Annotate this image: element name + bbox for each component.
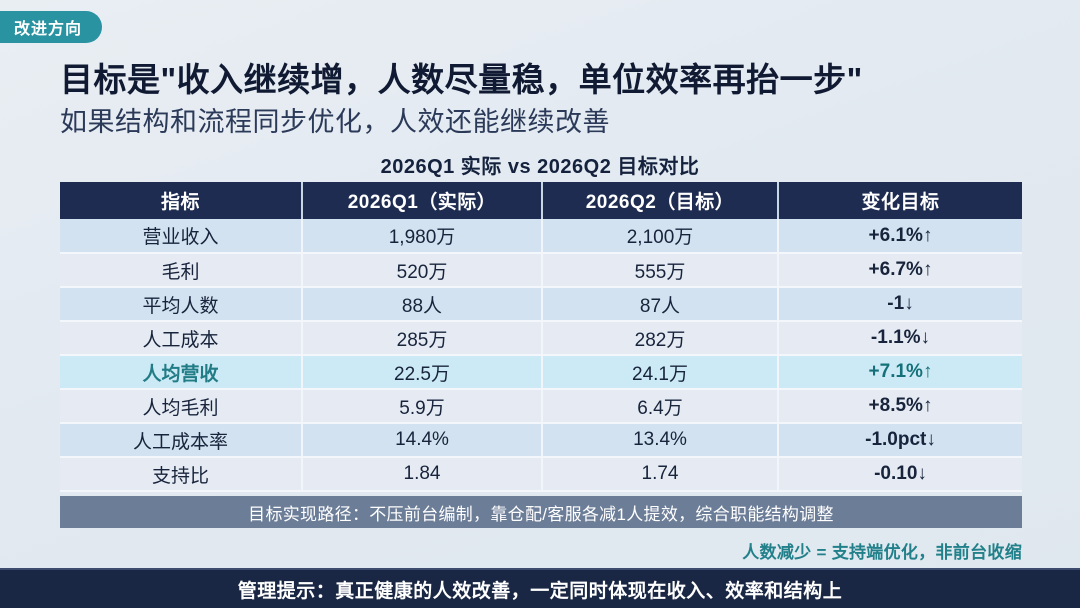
table-row: 毛利520万555万+6.7%↑: [60, 253, 1022, 287]
table-row: 人均营收22.5万24.1万+7.1%↑: [60, 355, 1022, 389]
cell-change-target: +7.1%↑: [778, 355, 1022, 389]
cell-q2-target: 87人: [542, 287, 778, 321]
cell-metric: 人均毛利: [60, 389, 302, 423]
comparison-table: 指标 2026Q1（实际） 2026Q2（目标） 变化目标 营业收入1,980万…: [60, 182, 1022, 492]
cell-change-target: -0.10↓: [778, 457, 1022, 491]
table-header-row: 指标 2026Q1（实际） 2026Q2（目标） 变化目标: [60, 182, 1022, 219]
path-banner-text: 目标实现路径：不压前台编制，靠仓配/客服各减1人提效，综合职能结构调整: [248, 500, 834, 525]
section-badge-label: 改进方向: [14, 15, 82, 39]
table-title: 2026Q1 实际 vs 2026Q2 目标对比: [0, 150, 1080, 179]
table-row: 营业收入1,980万2,100万+6.1%↑: [60, 219, 1022, 253]
cell-change-target: -1.1%↓: [778, 321, 1022, 355]
section-badge: 改进方向: [0, 11, 102, 43]
cell-metric: 平均人数: [60, 287, 302, 321]
table-header: 指标 2026Q1（实际） 2026Q2（目标） 变化目标: [60, 182, 1022, 219]
cell-q1-actual: 1,980万: [302, 219, 542, 253]
table-row: 人均毛利5.9万6.4万+8.5%↑: [60, 389, 1022, 423]
table-row: 人工成本率14.4%13.4%-1.0pct↓: [60, 423, 1022, 457]
cell-q1-actual: 5.9万: [302, 389, 542, 423]
table-row: 人工成本285万282万-1.1%↓: [60, 321, 1022, 355]
page-subtitle: 如果结构和流程同步优化，人效还能继续改善: [60, 100, 610, 139]
column-header-change-target: 变化目标: [778, 182, 1022, 219]
table-row: 平均人数88人87人-1↓: [60, 287, 1022, 321]
table-body: 营业收入1,980万2,100万+6.1%↑毛利520万555万+6.7%↑平均…: [60, 219, 1022, 491]
cell-q2-target: 13.4%: [542, 423, 778, 457]
cell-change-target: +8.5%↑: [778, 389, 1022, 423]
cell-q2-target: 1.74: [542, 457, 778, 491]
callout-note: 人数减少 = 支持端优化，非前台收缩: [742, 538, 1022, 563]
cell-q1-actual: 14.4%: [302, 423, 542, 457]
cell-metric: 支持比: [60, 457, 302, 491]
table-row: 支持比1.841.74-0.10↓: [60, 457, 1022, 491]
cell-metric: 人工成本: [60, 321, 302, 355]
cell-metric: 毛利: [60, 253, 302, 287]
cell-change-target: +6.1%↑: [778, 219, 1022, 253]
cell-q1-actual: 520万: [302, 253, 542, 287]
bottom-tip-bar: 管理提示：真正健康的人效改善，一定同时体现在收入、效率和结构上: [0, 568, 1080, 608]
cell-metric: 营业收入: [60, 219, 302, 253]
cell-q2-target: 555万: [542, 253, 778, 287]
cell-q1-actual: 285万: [302, 321, 542, 355]
column-header-q2-target: 2026Q2（目标）: [542, 182, 778, 219]
cell-metric: 人均营收: [60, 355, 302, 389]
cell-q2-target: 2,100万: [542, 219, 778, 253]
cell-change-target: -1.0pct↓: [778, 423, 1022, 457]
cell-q1-actual: 1.84: [302, 457, 542, 491]
column-header-q1-actual: 2026Q1（实际）: [302, 182, 542, 219]
cell-q2-target: 24.1万: [542, 355, 778, 389]
cell-q2-target: 282万: [542, 321, 778, 355]
cell-metric: 人工成本率: [60, 423, 302, 457]
cell-q1-actual: 88人: [302, 287, 542, 321]
path-banner: 目标实现路径：不压前台编制，靠仓配/客服各减1人提效，综合职能结构调整: [60, 496, 1022, 528]
bottom-tip-text: 管理提示：真正健康的人效改善，一定同时体现在收入、效率和结构上: [238, 576, 843, 603]
column-header-metric: 指标: [60, 182, 302, 219]
page-title: 目标是"收入继续增，人数尽量稳，单位效率再抬一步": [60, 53, 863, 101]
cell-q1-actual: 22.5万: [302, 355, 542, 389]
cell-change-target: -1↓: [778, 287, 1022, 321]
cell-q2-target: 6.4万: [542, 389, 778, 423]
cell-change-target: +6.7%↑: [778, 253, 1022, 287]
comparison-table-wrapper: 指标 2026Q1（实际） 2026Q2（目标） 变化目标 营业收入1,980万…: [60, 182, 1022, 492]
